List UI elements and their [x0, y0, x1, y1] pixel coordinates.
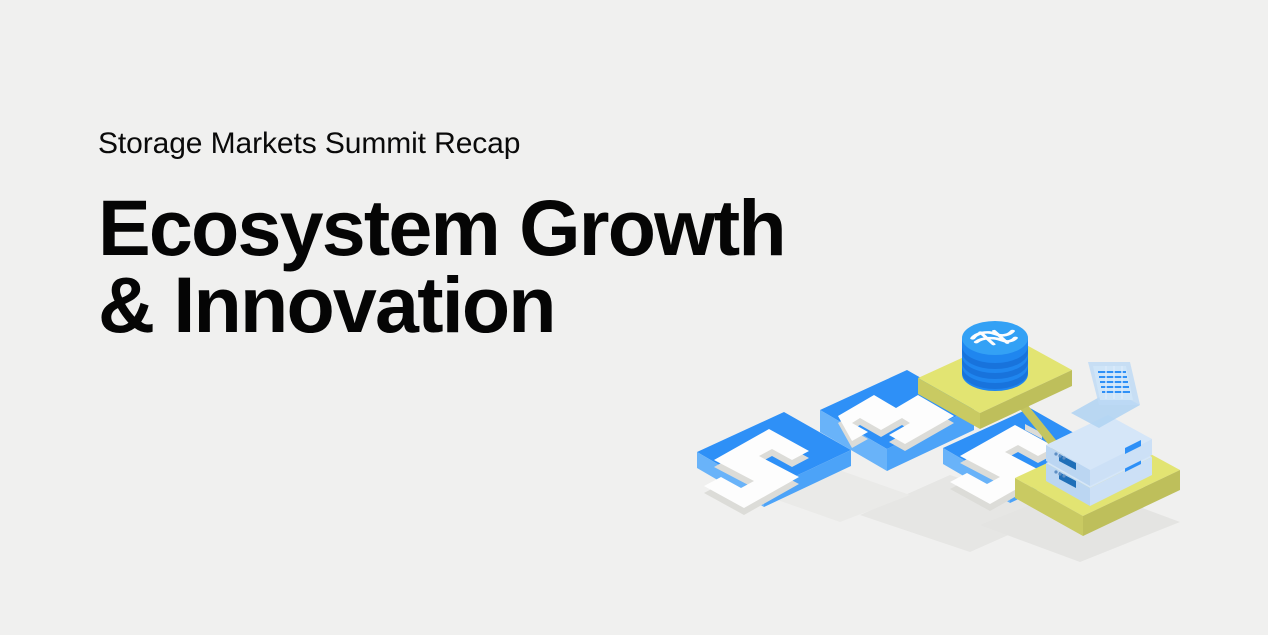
isometric-illustration: [660, 300, 1220, 600]
laptop-screen: [1071, 362, 1140, 428]
illustration-canvas: [660, 300, 1220, 600]
database-cylinder: [962, 321, 1028, 391]
eyebrow-label: Storage Markets Summit Recap: [98, 126, 858, 162]
hero-banner: Storage Markets Summit Recap Ecosystem G…: [0, 0, 1268, 635]
